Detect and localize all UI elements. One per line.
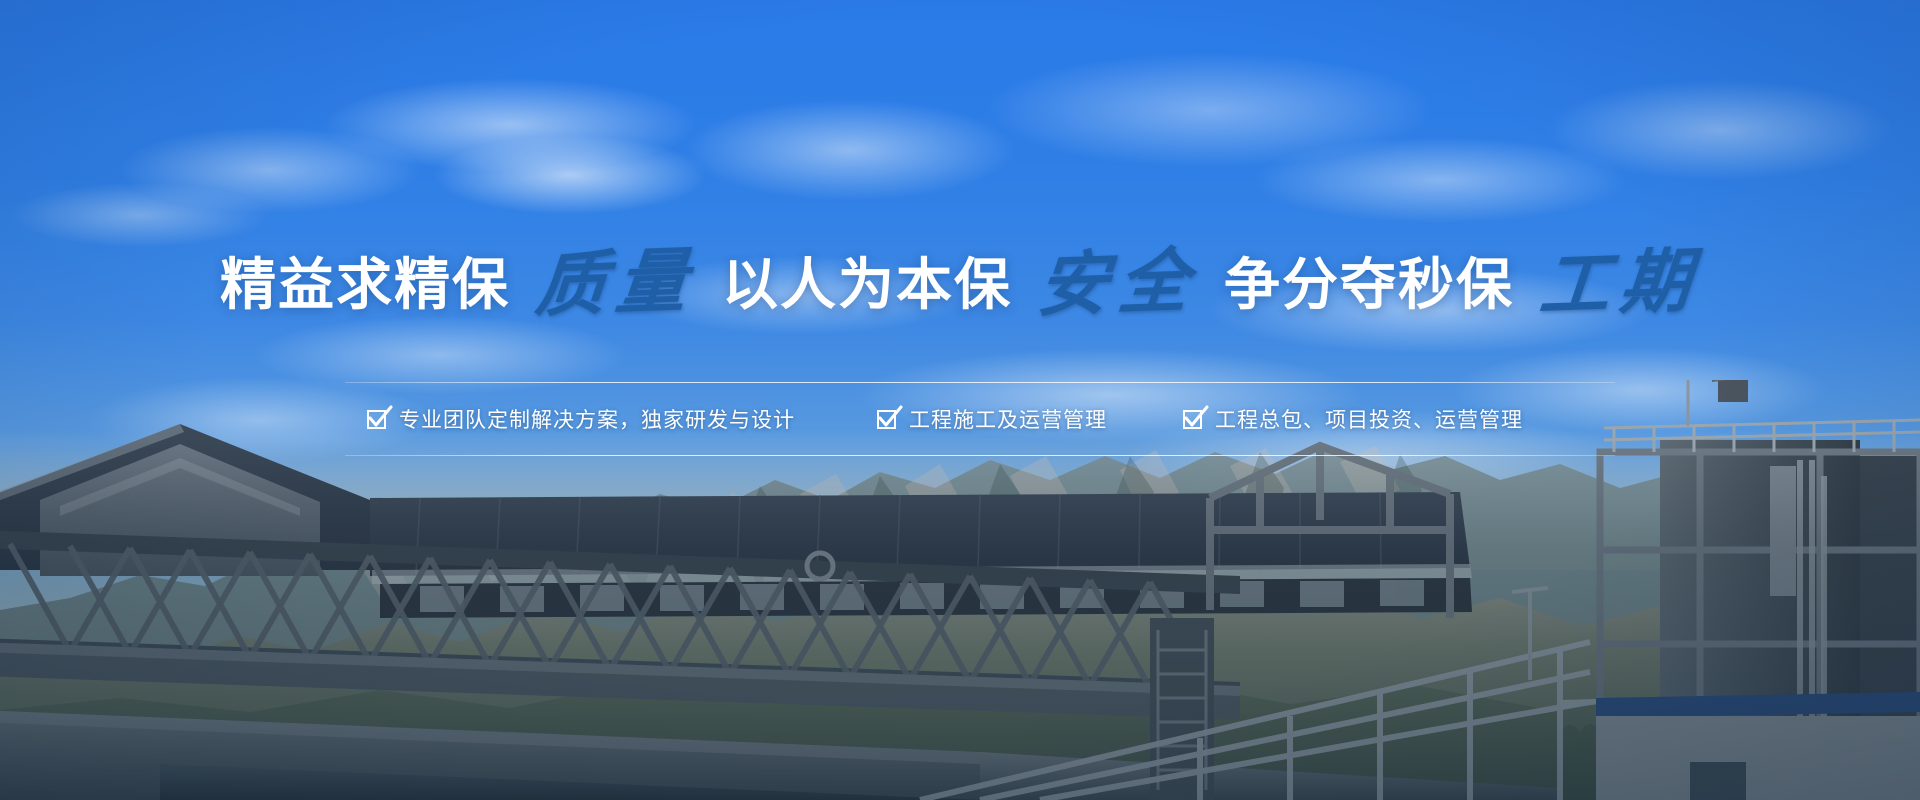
- headline: 精益求精保 质量 以人为本保 安全 争分夺秒保 工期: [0, 250, 1920, 320]
- headline-segment-safety-keyword: 安全: [1035, 247, 1202, 323]
- feature-item-solution[interactable]: 专业团队定制解决方案，独家研发与设计: [367, 404, 795, 434]
- feature-label: 工程总包、项目投资、运营管理: [1215, 404, 1523, 434]
- headline-segment-schedule-prefix: 争分夺秒保: [1224, 257, 1514, 313]
- tower-structure: [1596, 380, 1920, 800]
- headline-segment-quality-prefix: 精益求精保: [220, 257, 510, 313]
- checkbox-checked-icon: [877, 410, 896, 429]
- feature-label: 工程施工及运营管理: [909, 404, 1107, 434]
- divider-bottom: [345, 455, 1615, 456]
- headline-segment-quality-keyword: 质量: [533, 247, 700, 323]
- feature-row: 专业团队定制解决方案，独家研发与设计 工程施工及运营管理 工程总包、项目投资、运…: [345, 383, 1615, 455]
- headline-segment-safety-prefix: 以人为本保: [722, 257, 1012, 313]
- checkbox-checked-icon: [1183, 410, 1202, 429]
- light-pole: [1512, 588, 1548, 680]
- checkbox-checked-icon: [367, 410, 386, 429]
- headline-segment-schedule-keyword: 工期: [1537, 247, 1704, 323]
- feature-label: 专业团队定制解决方案，独家研发与设计: [399, 404, 795, 434]
- hero-banner: 精益求精保 质量 以人为本保 安全 争分夺秒保 工期 专业团队定制解决方案，独家…: [0, 0, 1920, 800]
- feature-strip: 专业团队定制解决方案，独家研发与设计 工程施工及运营管理 工程总包、项目投资、运…: [345, 382, 1615, 456]
- feature-item-construction[interactable]: 工程施工及运营管理: [877, 404, 1107, 434]
- feature-item-epc[interactable]: 工程总包、项目投资、运营管理: [1183, 404, 1523, 434]
